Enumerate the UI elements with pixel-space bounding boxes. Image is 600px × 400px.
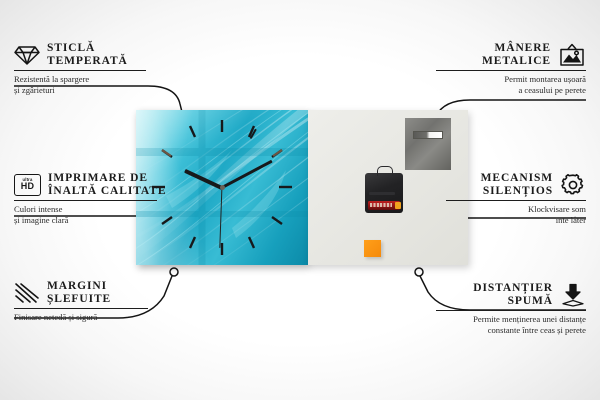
diamond-icon	[14, 44, 40, 66]
battery-positive-cap	[395, 202, 401, 209]
feature-subtitle: Klockvisare som inte låter	[446, 204, 586, 225]
ultra-hd-badge-icon: ultra HD	[14, 174, 41, 196]
infographic-canvas: STICLĂ TEMPERATĂ Rezistentă la spargere …	[0, 0, 600, 400]
gear-icon	[560, 173, 586, 197]
battery-label	[370, 203, 392, 206]
feature-subtitle: Culori intense și imagine clară	[14, 204, 174, 225]
battery	[368, 201, 400, 210]
clock-center-pin	[220, 185, 225, 190]
foam-spacer	[364, 240, 381, 257]
connector-dot	[415, 268, 423, 276]
feature-hd-print: ultra HD IMPRIMARE DE ÎNALTĂ CALITATE Cu…	[14, 172, 174, 225]
badge-hd-label: HD	[21, 182, 35, 191]
feature-title: IMPRIMARE DE ÎNALTĂ CALITATE	[48, 172, 166, 197]
mechanism-slot	[369, 192, 395, 195]
diagonal-lines-icon	[14, 282, 40, 304]
feature-polished-edges: MARGINI ȘLEFUITE Finisare netedă și sigu…	[14, 280, 164, 323]
connector-dot	[170, 268, 178, 276]
feature-silent-mechanism: MECANISM SILENȚIOS Klockvisare som inte …	[446, 172, 586, 225]
metal-hanger-plate	[405, 118, 451, 170]
clock-mechanism	[365, 173, 403, 213]
feature-title: MARGINI ȘLEFUITE	[47, 280, 111, 305]
product-back-panel	[308, 110, 468, 265]
feature-tempered-glass: STICLĂ TEMPERATĂ Rezistentă la spargere …	[14, 42, 164, 95]
feature-subtitle: Permit montarea ușoară a ceasului pe per…	[436, 74, 586, 95]
feature-title: MECANISM SILENȚIOS	[481, 172, 553, 197]
feature-metal-handles: MÂNERE METALICE Permit montarea ușoară a…	[436, 42, 586, 95]
feature-subtitle: Finisare netedă și sigură	[14, 312, 164, 322]
feature-foam-spacer: DISTANȚIER SPUMĂ Permite menținerea unei…	[436, 282, 586, 335]
hanger-keyhole-slot	[413, 131, 443, 139]
feature-subtitle: Permite menținerea unei distanțe constan…	[436, 314, 586, 335]
feature-rule	[446, 200, 586, 201]
feature-rule	[14, 70, 146, 71]
feature-subtitle: Rezistentă la spargere și zgârieturi	[14, 74, 164, 95]
mechanism-hanger-loop	[377, 166, 393, 176]
picture-frame-hanging-icon	[558, 43, 586, 67]
feature-title: STICLĂ TEMPERATĂ	[47, 42, 128, 67]
feature-rule	[436, 70, 586, 71]
feature-rule	[14, 200, 157, 201]
feature-rule	[14, 308, 148, 309]
feature-title: MÂNERE METALICE	[482, 42, 551, 67]
arrow-down-onto-surface-icon	[560, 283, 586, 307]
feature-rule	[436, 310, 586, 311]
feature-title: DISTANȚIER SPUMĂ	[473, 282, 553, 307]
